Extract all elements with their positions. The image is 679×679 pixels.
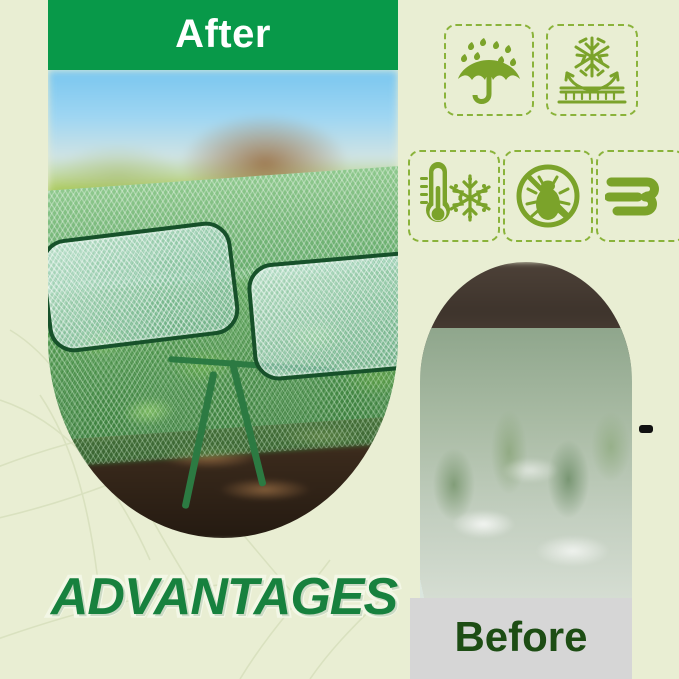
mesh-window-right <box>245 247 398 382</box>
thermometer-snowflake-icon <box>415 160 493 232</box>
advantages-title: ADVANTAGES <box>48 566 400 628</box>
after-photo <box>48 70 398 538</box>
after-banner: After <box>48 0 398 70</box>
umbrella-rain-icon <box>454 34 524 106</box>
feature-wind-protection <box>596 150 679 242</box>
feature-frost-and-cold <box>408 150 500 242</box>
product-infographic: After ADVANTAGES Before <box>0 0 679 679</box>
edge-dash-mark <box>639 425 653 433</box>
after-label: After <box>175 14 271 57</box>
no-bug-icon <box>512 160 584 232</box>
before-band: Before <box>410 598 632 679</box>
feature-rain-protection <box>444 24 534 116</box>
ice-highlights <box>420 262 632 598</box>
feature-pest-protection <box>503 150 593 242</box>
advantages-label: ADVANTAGES <box>51 571 397 623</box>
before-label: Before <box>454 616 587 662</box>
feature-snow-shedding <box>546 24 638 116</box>
snowflake-surface-icon <box>555 33 629 107</box>
mesh-window-left <box>48 219 242 356</box>
before-photo <box>420 262 632 598</box>
wind-icon <box>605 165 677 227</box>
